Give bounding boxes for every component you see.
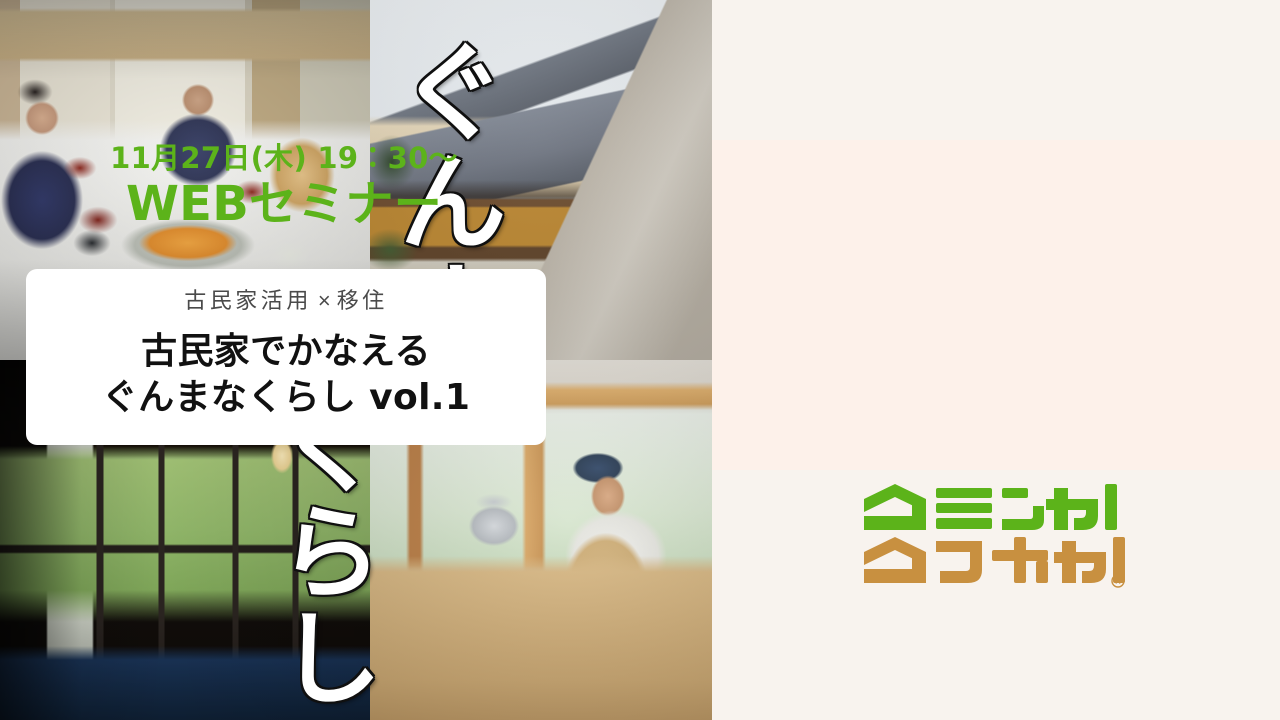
logo-line1-komminka — [864, 484, 1117, 530]
headline-block: 11月27日(木) 19：30〜 WEBセミナー — [0, 141, 568, 232]
svg-text:R: R — [1115, 577, 1121, 586]
photo-alt-text: 古民家の和室で家族が鍋を囲んで食事をしている様子（犬も同席） — [0, 0, 1, 1]
logo-line2-konaika: R — [864, 537, 1125, 587]
panel-highlight-band — [712, 140, 1280, 470]
seminar-type-heading: WEBセミナー — [0, 178, 568, 232]
info-panel — [712, 0, 1280, 720]
seminar-title-line1: 古民家でかなえる — [102, 329, 470, 375]
kicker-separator: × — [312, 288, 337, 313]
photo-alt-text: 古民家を改装したカフェの内観、大きな窓から緑が見える — [0, 360, 1, 361]
seminar-title: 古民家でかなえる ぐんまなくらし vol.1 — [102, 329, 470, 421]
kicker-left-term: 古民家活用 — [184, 289, 312, 314]
seminar-poster: 古民家の和室で家族が鍋を囲んで食事をしている様子（犬も同席） 瓦屋根の古民家の外… — [0, 0, 1280, 720]
title-kicker: 古民家活用×移住 — [184, 287, 388, 317]
kicker-right-term: 移住 — [337, 289, 388, 314]
seminar-datetime: 11月27日(木) 19：30〜 — [0, 141, 568, 176]
title-card: 古民家活用×移住 古民家でかなえる ぐんまなくらし vol.1 — [26, 269, 546, 445]
photo-alt-text: 瓦屋根の古民家の外観と手入れされた日本庭園・石畳のアプローチ — [370, 0, 371, 1]
kominka-konaika-logo: R コミンカ コナイカ — [862, 482, 1130, 592]
seminar-title-line2: ぐんまなくらし vol.1 — [102, 375, 470, 421]
